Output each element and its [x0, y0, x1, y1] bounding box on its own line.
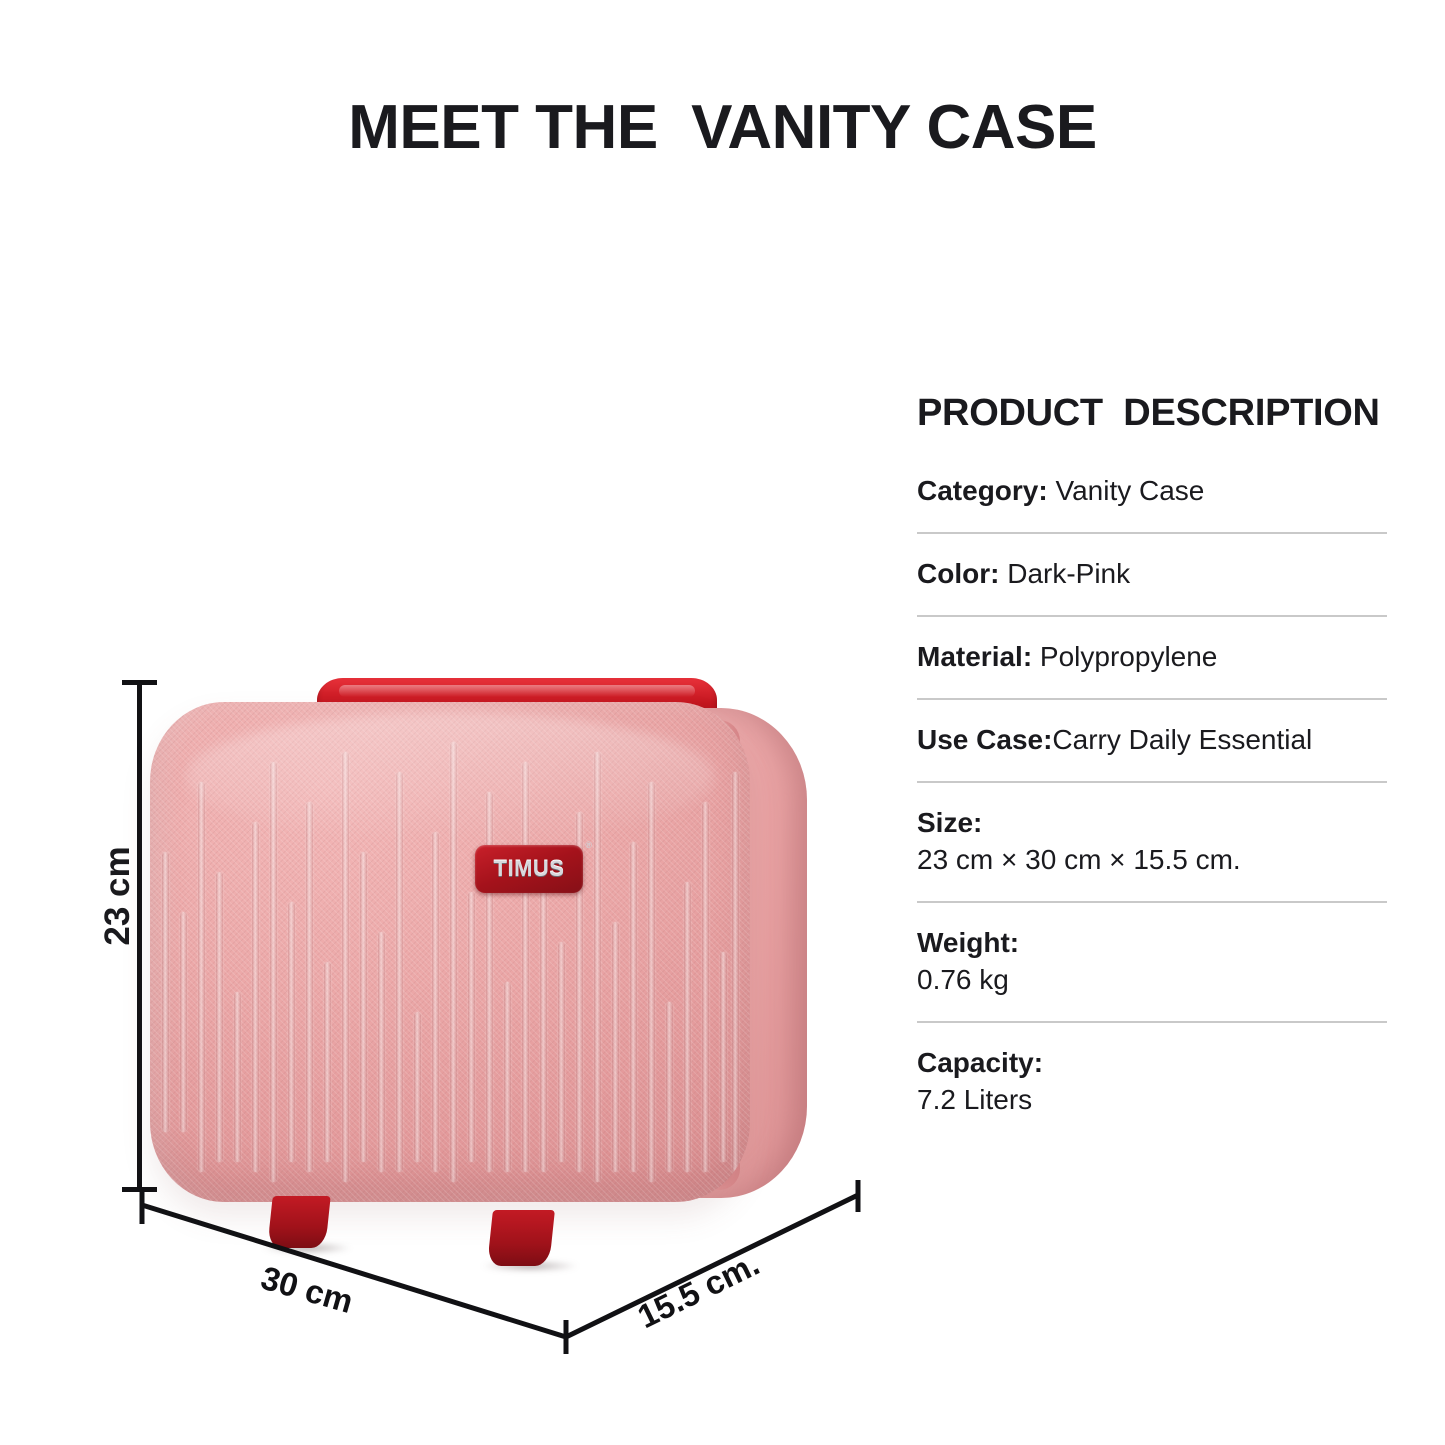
spec-row: Weight:0.76 kg — [917, 925, 1387, 1023]
spec-line: Size:23 cm × 30 cm × 15.5 cm. — [917, 805, 1387, 879]
rib — [252, 822, 259, 1172]
rib — [504, 982, 511, 1172]
dimension-label-height: 23 cm — [98, 816, 138, 976]
spec-value: Polypropylene — [1032, 641, 1217, 672]
rib — [732, 772, 739, 1172]
spec-line: Color: Dark-Pink — [917, 556, 1387, 593]
spec-key: Material: — [917, 641, 1032, 672]
rib — [648, 782, 655, 1182]
spec-key: Capacity: — [917, 1047, 1043, 1078]
surface-highlight — [186, 712, 714, 842]
spec-row: Color: Dark-Pink — [917, 556, 1387, 617]
rib — [684, 882, 691, 1172]
spec-value: Dark-Pink — [999, 558, 1130, 589]
spec-panel-heading: PRODUCT DESCRIPTION — [917, 392, 1387, 435]
page-title: MEET THE VANITY CASE — [0, 92, 1445, 163]
rib — [288, 902, 295, 1162]
spec-value: Carry Daily Essential — [1052, 724, 1312, 755]
brand-logo-text: TIMUS — [494, 856, 565, 882]
rib — [360, 852, 367, 1162]
spec-line: Category: Vanity Case — [917, 473, 1387, 510]
registered-trademark-icon: ® — [585, 840, 592, 850]
spec-line: Material: Polypropylene — [917, 639, 1387, 676]
spec-row: Use Case:Carry Daily Essential — [917, 722, 1387, 783]
rib — [702, 802, 709, 1172]
rib — [432, 832, 439, 1172]
dimension-lines-base — [100, 1180, 890, 1380]
rib — [720, 952, 727, 1162]
product-illustration: 23 cm TIMUS ® — [100, 640, 890, 1380]
brand-logo-badge: TIMUS ® — [475, 845, 583, 893]
vanity-case-graphic: TIMUS ® — [142, 662, 832, 1222]
spec-row: Category: Vanity Case — [917, 473, 1387, 534]
case-front-shell: TIMUS ® — [150, 702, 750, 1202]
spec-rows: Category: Vanity CaseColor: Dark-PinkMat… — [917, 473, 1387, 1141]
spec-key: Size: — [917, 807, 982, 838]
rib — [540, 872, 547, 1172]
spec-line: Capacity:7.2 Liters — [917, 1045, 1387, 1119]
rib — [468, 892, 475, 1162]
product-description-panel: PRODUCT DESCRIPTION Category: Vanity Cas… — [917, 392, 1387, 1141]
rib — [630, 842, 637, 1172]
dimension-svg — [100, 1180, 890, 1380]
spec-key: Color: — [917, 558, 999, 589]
spec-key: Weight: — [917, 927, 1019, 958]
rib — [198, 782, 205, 1172]
spec-row: Material: Polypropylene — [917, 639, 1387, 700]
rib — [414, 1012, 421, 1162]
rib — [666, 1002, 673, 1172]
rib — [216, 872, 223, 1162]
spec-key: Use Case: — [917, 724, 1052, 755]
spec-value: 7.2 Liters — [917, 1082, 1387, 1119]
rib — [558, 942, 565, 1162]
spec-value: 0.76 kg — [917, 962, 1387, 999]
rib — [162, 852, 169, 1132]
spec-row: Size:23 cm × 30 cm × 15.5 cm. — [917, 805, 1387, 903]
rib — [612, 922, 619, 1172]
infographic-page: MEET THE VANITY CASE 23 cm TIMUS ® — [0, 0, 1445, 1445]
spec-line: Use Case:Carry Daily Essential — [917, 722, 1387, 759]
spec-row: Capacity:7.2 Liters — [917, 1045, 1387, 1141]
spec-value: Vanity Case — [1048, 475, 1205, 506]
spec-value: 23 cm × 30 cm × 15.5 cm. — [917, 842, 1387, 879]
spec-line: Weight:0.76 kg — [917, 925, 1387, 999]
rib — [324, 962, 331, 1162]
rib — [234, 992, 241, 1162]
spec-key: Category: — [917, 475, 1048, 506]
rib — [180, 912, 187, 1132]
rib — [306, 802, 313, 1172]
rib — [378, 932, 385, 1172]
